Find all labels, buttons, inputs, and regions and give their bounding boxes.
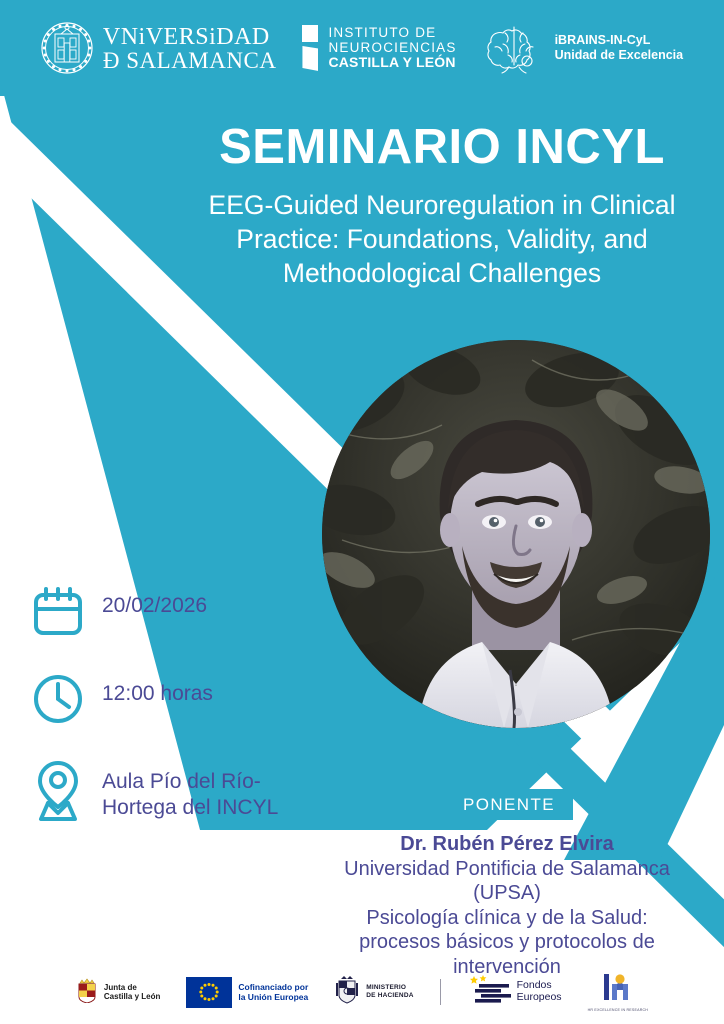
- event-details-list: 20/02/2026 12:00 horas Aula Pío del: [32, 583, 312, 820]
- spain-coat-of-arms-icon: [334, 975, 360, 1010]
- event-detail-time: 12:00 horas: [32, 671, 312, 727]
- speaker-block: Dr. Rubén Pérez Elvira Universidad Ponti…: [290, 832, 724, 979]
- calendar-icon: [32, 583, 84, 639]
- page-title: SEMINARIO INCYL: [168, 122, 716, 173]
- ponente-badge: PONENTE: [445, 789, 573, 820]
- usal-wordmark: VNiVERSiDAD Ð SALAMANCA: [103, 25, 277, 72]
- clock-icon: [32, 671, 84, 727]
- incyl-bookmark-icon: [302, 25, 318, 71]
- logo-ibrains-in-cyl: iBRAINS-IN-CyL Unidad de Excelencia: [483, 17, 684, 80]
- logo-ministerio-de-hacienda: MINISTERIO DE HACIENDA: [334, 975, 413, 1010]
- usal-seal-icon: [41, 22, 93, 74]
- ibrains-line-2: Unidad de Excelencia: [555, 48, 684, 63]
- speaker-affiliation: Universidad Pontificia de Salamanca (UPS…: [290, 857, 724, 906]
- eu-line-2: la Unión Europea: [238, 992, 308, 1002]
- jcyl-wordmark: Junta de Castilla y León: [104, 983, 160, 1001]
- location-pin-icon: [32, 759, 84, 815]
- brain-outline-icon: [483, 17, 545, 80]
- ministerio-line-1: MINISTERIO: [366, 984, 413, 992]
- incyl-line-3: CASTILLA Y LEÓN: [328, 55, 456, 71]
- page-subtitle: EEG-Guided Neuroregulation in Clinical P…: [168, 189, 716, 291]
- incyl-line-1: INSTITUTO DE: [328, 25, 456, 40]
- jcyl-crest-icon: [76, 977, 98, 1008]
- eu-wordmark: Cofinanciado por la Unión Europea: [238, 982, 308, 1002]
- event-date-value: 20/02/2026: [102, 583, 207, 619]
- usal-line-2: Ð SALAMANCA: [103, 49, 277, 72]
- title-block: SEMINARIO INCYL EEG-Guided Neuroregulati…: [168, 122, 716, 291]
- event-venue-value: Aula Pío del Río- Hortega del INCYL: [102, 759, 278, 820]
- ministerio-line-2: DE HACIENDA: [366, 992, 413, 1000]
- eu-flag-icon: [186, 977, 232, 1008]
- incyl-line-2: NEUROCIENCIAS: [328, 40, 456, 55]
- hr-person-icon: [601, 972, 635, 1007]
- logo-cofinanciado-union-europea: Cofinanciado por la Unión Europea: [186, 977, 308, 1008]
- ibrains-wordmark: iBRAINS-IN-CyL Unidad de Excelencia: [555, 33, 684, 63]
- footer-divider: [440, 979, 441, 1005]
- fondos-europeos-wordmark: Fondos Europeos: [517, 980, 562, 1004]
- logo-hr-excellence-in-research: HR EXCELLENCE IN RESEARCH: [588, 972, 649, 1012]
- speaker-name: Dr. Rubén Pérez Elvira: [290, 832, 724, 857]
- event-detail-venue: Aula Pío del Río- Hortega del INCYL: [32, 759, 312, 820]
- speaker-photo: [322, 340, 710, 728]
- usal-line-1: VNiVERSiDAD: [103, 25, 277, 49]
- fondos-line-2: Europeos: [517, 992, 562, 1004]
- logo-fondos-europeos: Fondos Europeos: [467, 974, 562, 1011]
- hr-caption: HR EXCELLENCE IN RESEARCH: [588, 1008, 649, 1012]
- event-detail-date: 20/02/2026: [32, 583, 312, 639]
- jcyl-line-1: Junta de: [104, 983, 160, 992]
- logo-universidad-de-salamanca: VNiVERSiDAD Ð SALAMANCA: [41, 22, 277, 74]
- eu-line-1: Cofinanciado por: [238, 982, 308, 992]
- fondos-europeos-bars-icon: [467, 974, 511, 1011]
- header-logo-bar: VNiVERSiDAD Ð SALAMANCA INSTITUTO DE NEU…: [0, 0, 724, 96]
- logo-instituto-neurociencias: INSTITUTO DE NEUROCIENCIAS CASTILLA Y LE…: [302, 25, 456, 71]
- incyl-wordmark: INSTITUTO DE NEUROCIENCIAS CASTILLA Y LE…: [328, 25, 456, 71]
- ministerio-wordmark: MINISTERIO DE HACIENDA: [366, 984, 413, 1000]
- ibrains-line-1: iBRAINS-IN-CyL: [555, 33, 684, 48]
- seminar-poster: VNiVERSiDAD Ð SALAMANCA INSTITUTO DE NEU…: [0, 0, 724, 1024]
- event-time-value: 12:00 horas: [102, 671, 213, 707]
- footer-funding-logos: Junta de Castilla y León: [0, 964, 724, 1020]
- jcyl-line-2: Castilla y León: [104, 992, 160, 1001]
- logo-junta-de-castilla-y-leon: Junta de Castilla y León: [76, 977, 160, 1008]
